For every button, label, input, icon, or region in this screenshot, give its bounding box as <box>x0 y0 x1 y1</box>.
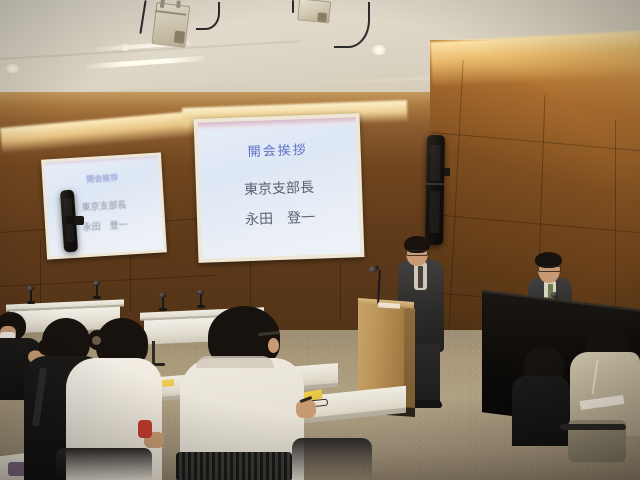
wall-speaker-right <box>425 135 445 245</box>
audience-hand <box>296 400 316 418</box>
hair-clip <box>92 336 101 345</box>
chair-frame <box>560 424 626 430</box>
table-microphone <box>92 281 102 301</box>
table-microphone <box>196 290 206 310</box>
main-screen-line2: 永田 登一 <box>201 205 360 231</box>
side-screen-title: 開会挨拶 <box>45 170 159 188</box>
audience-hair-bun <box>38 338 58 356</box>
chair-back <box>176 452 292 480</box>
main-screen-line1: 東京支部長 <box>200 175 359 201</box>
audience-body <box>512 376 570 446</box>
speaker-bracket <box>444 168 450 176</box>
downlight <box>6 64 19 73</box>
chair-back <box>56 448 152 480</box>
table-microphone <box>158 293 168 313</box>
red-item <box>138 420 152 438</box>
shirt-collar <box>196 356 274 368</box>
speaker-bracket <box>74 216 84 225</box>
ceiling-projector <box>297 0 334 28</box>
audience-ear <box>268 338 279 353</box>
main-screen-title: 開会挨拶 <box>198 137 357 162</box>
downlight <box>372 45 386 55</box>
projector-cable <box>292 0 294 13</box>
main-projection-screen: 開会挨拶 東京支部長 永田 登一 <box>194 113 365 263</box>
downlight <box>120 44 131 51</box>
wall-panel-seam <box>130 250 131 312</box>
right-person-glasses <box>538 266 561 272</box>
speaker-glasses <box>406 250 428 256</box>
wall-panel-seam <box>340 262 341 320</box>
chair-back <box>292 438 372 480</box>
table-microphone <box>26 286 36 306</box>
conference-hall-photo: 開会挨拶 東京支部長 永田 登一 開会挨拶 東京支部長 永田 登一 <box>0 0 640 480</box>
speaker-tie <box>418 266 423 288</box>
ceiling-projector <box>149 0 193 50</box>
